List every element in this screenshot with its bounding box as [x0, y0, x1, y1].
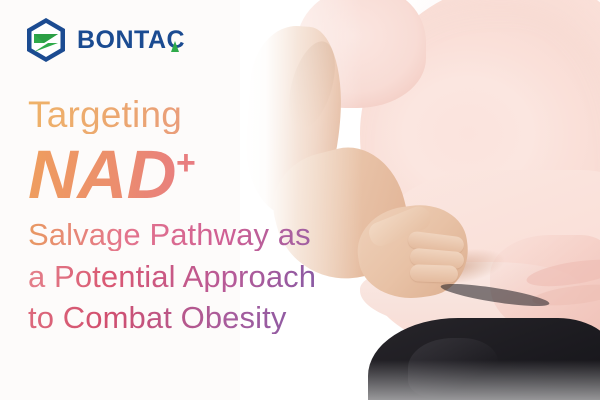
brand-logo: BONTAC — [24, 17, 185, 63]
leaf-accent-icon — [171, 41, 179, 52]
headline-line-nad: NAD+ — [28, 140, 348, 210]
headline-line-approach: a Potential Approach — [28, 261, 348, 293]
bontac-hexagon-leaf-logo-icon — [24, 17, 68, 63]
promo-banner: BONTAC Targeting NAD+ Salvage Pathway as… — [0, 0, 600, 400]
brand-wordmark: BONTAC — [77, 28, 185, 53]
headline-nad-text: NAD — [28, 136, 176, 213]
brand-wordmark-text: BONTAC — [77, 26, 185, 54]
headline-line-salvage: Salvage Pathway as — [28, 219, 348, 251]
headline-line-obesity: to Combat Obesity — [28, 302, 348, 334]
content-column: BONTAC Targeting NAD+ Salvage Pathway as… — [0, 0, 340, 400]
headline-nad-superscript: + — [176, 144, 195, 182]
headline-line-targeting: Targeting — [28, 96, 348, 134]
headline-block: Targeting NAD+ Salvage Pathway as a Pote… — [28, 96, 348, 334]
